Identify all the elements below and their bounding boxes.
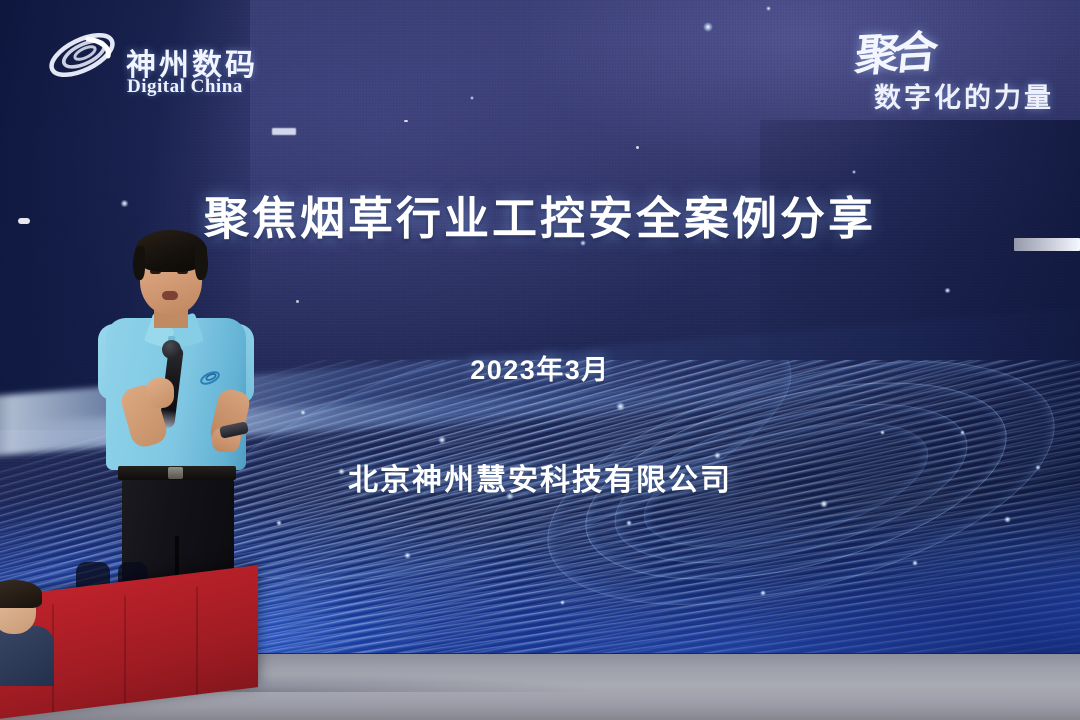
speaker-shirt-logo-icon: [199, 368, 221, 388]
event-logo-calligraphy: 聚合: [852, 16, 935, 84]
speaker-left-hand: [146, 378, 174, 408]
digital-china-logo: 神州数码 Digital China: [44, 20, 274, 92]
seated-attendee: [0, 588, 60, 680]
speaker-mouth: [162, 291, 178, 300]
conference-photo: 神州数码 Digital China 聚合 数字化的力量 聚焦烟草行业工控安全案…: [0, 0, 1080, 720]
speaker-belt-buckle: [168, 467, 183, 479]
speaker-presenter: [96, 228, 266, 600]
screen-left-light-chip: [272, 128, 296, 135]
event-logo: 聚合 数字化的力量: [796, 18, 1058, 116]
digital-china-english-name: Digital China: [127, 76, 243, 98]
speaker-hair-side-right: [195, 244, 208, 280]
event-logo-tagline: 数字化的力量: [874, 76, 1054, 115]
speaker-hair-side-left: [133, 246, 145, 280]
digital-china-swoosh-icon: [44, 24, 120, 86]
front-row-table: [0, 560, 280, 720]
